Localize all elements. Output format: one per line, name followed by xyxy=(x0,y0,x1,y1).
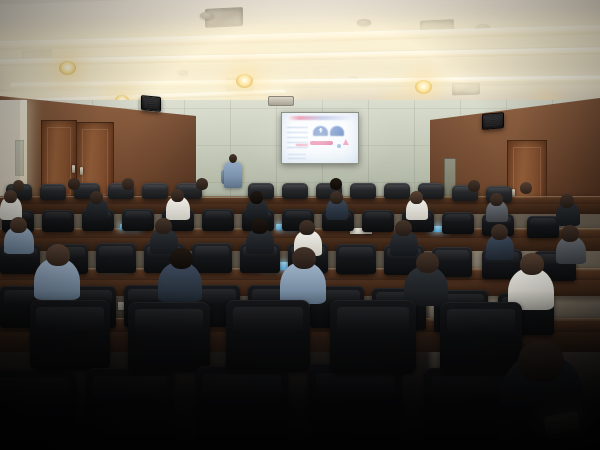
presenter-body xyxy=(224,162,242,188)
chair[interactable] xyxy=(122,209,154,231)
smoke-detector xyxy=(178,70,188,75)
chair[interactable] xyxy=(86,368,174,450)
speaker-left xyxy=(141,95,161,112)
speaker-right xyxy=(482,112,504,130)
attendee-head xyxy=(13,180,24,191)
chair[interactable] xyxy=(202,209,234,231)
chair[interactable] xyxy=(440,302,522,374)
attendee-head xyxy=(518,340,564,382)
hvac-vent xyxy=(452,82,480,96)
attendee-head xyxy=(292,247,316,269)
attendee-head xyxy=(122,178,134,190)
chair[interactable] xyxy=(226,300,310,372)
attendee-head xyxy=(330,191,343,204)
chair[interactable] xyxy=(442,212,474,234)
attendee-head xyxy=(560,194,574,208)
projection-screen xyxy=(281,112,359,164)
slide-dome-graphic xyxy=(330,126,344,136)
chair[interactable] xyxy=(282,183,308,199)
attendee-head xyxy=(171,189,184,202)
chair[interactable] xyxy=(30,300,110,370)
attendee-head xyxy=(468,180,480,192)
attendee-head xyxy=(416,252,439,273)
chair[interactable] xyxy=(362,210,394,232)
slide-banner xyxy=(310,141,333,145)
chair[interactable] xyxy=(128,302,210,372)
attendee-head xyxy=(395,220,412,236)
attendee-head xyxy=(491,224,508,240)
chair[interactable] xyxy=(0,370,76,450)
conference-room-photo xyxy=(0,0,600,450)
chair[interactable] xyxy=(330,300,416,374)
attendee-head xyxy=(520,253,544,275)
smoke-detector xyxy=(200,12,214,19)
ceiling-projector xyxy=(268,96,294,106)
attendee-head xyxy=(196,178,208,190)
slide-title-bar xyxy=(288,116,352,120)
chair[interactable] xyxy=(96,243,136,273)
presenter-head xyxy=(229,154,237,163)
chair[interactable] xyxy=(196,366,288,450)
ceiling xyxy=(0,0,600,112)
attendee-head xyxy=(10,217,27,233)
wall-panel-left xyxy=(15,140,24,176)
attendee-head xyxy=(68,178,80,190)
chair[interactable] xyxy=(527,216,559,238)
attendee-head xyxy=(90,191,103,204)
attendee-head xyxy=(250,191,263,204)
chair[interactable] xyxy=(308,364,402,450)
slide-dot-icon xyxy=(337,144,341,148)
attendee-head xyxy=(170,248,193,269)
door-handle-icon[interactable] xyxy=(72,165,75,173)
attendee-head xyxy=(520,182,532,194)
attendee-head xyxy=(155,218,172,234)
chair[interactable] xyxy=(42,210,74,232)
chair[interactable] xyxy=(142,183,168,199)
slide-pink-text xyxy=(296,144,308,146)
slide-text-block-bottom xyxy=(288,151,306,159)
chair[interactable] xyxy=(40,184,66,200)
attendee-head xyxy=(299,220,315,235)
smoke-detector xyxy=(357,19,371,26)
attendee-head xyxy=(4,190,17,203)
attendee-head xyxy=(330,178,342,190)
projection-screen-surface xyxy=(282,113,358,163)
recessed-downlight xyxy=(59,61,76,75)
chair[interactable] xyxy=(350,183,376,199)
attendee-head xyxy=(46,244,70,266)
chair[interactable] xyxy=(336,244,376,274)
recessed-downlight xyxy=(236,74,253,88)
chair[interactable] xyxy=(384,183,410,199)
door-handle-icon[interactable] xyxy=(80,167,83,175)
attendee-head xyxy=(410,191,423,204)
attendee-head xyxy=(561,225,579,242)
attendee-head xyxy=(251,218,268,234)
attendee-head xyxy=(490,193,503,206)
chair[interactable] xyxy=(192,243,232,273)
recessed-downlight xyxy=(415,80,432,94)
slide-triangle-icon xyxy=(343,139,349,145)
